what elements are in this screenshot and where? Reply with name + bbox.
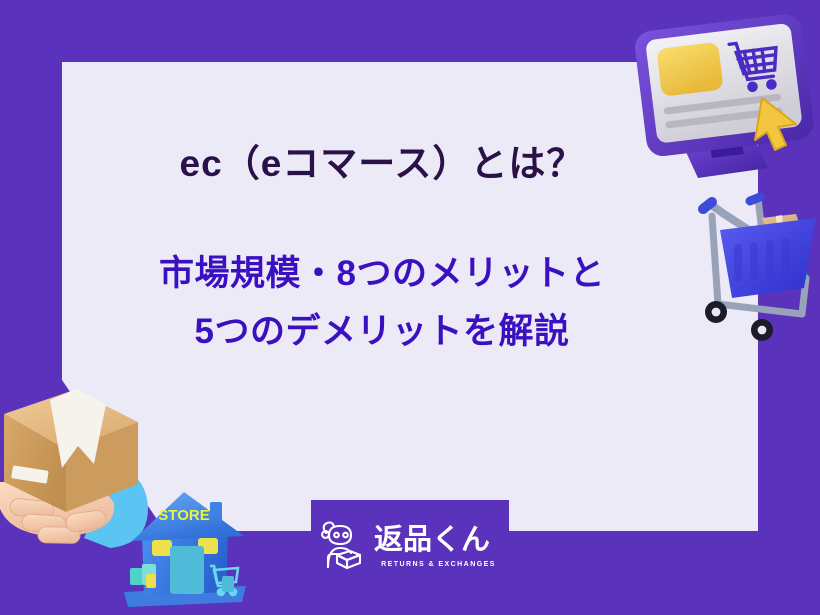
brand-wordmark-text: 返品くん: [374, 523, 490, 556]
page-title: ec（eコマース）とは？: [62, 133, 702, 187]
shopping-cart-with-parcels-illustration: [690, 192, 820, 357]
store-shopping-bags: [130, 564, 156, 588]
cart-wheel-right-hub: [758, 326, 767, 335]
cart-frame-grip: [750, 197, 760, 201]
brand-wordmark: 返品くん: [374, 522, 504, 556]
cart-handle-grip: [703, 202, 712, 209]
brand-logo-bar: 返品くん RETURNS & EXCHANGES: [311, 500, 509, 590]
brand-tagline: RETURNS & EXCHANGES: [381, 561, 496, 568]
screen-image-placeholder: [656, 42, 723, 97]
page-subtitle: 市場規模・8つのメリットと 5つのデメリットを解説: [62, 245, 702, 361]
store-awning-left: [152, 540, 172, 556]
page-subtitle-line-2: 5つのデメリットを解説: [62, 303, 702, 361]
thumbnail-canvas: ec（eコマース）とは？ 市場規模・8つのメリットと 5つのデメリットを解説: [0, 0, 820, 615]
store-bag-extra: [222, 576, 234, 592]
returns-robot-mascot-icon: [317, 520, 363, 570]
desktop-monitor-ecommerce-illustration: [628, 14, 820, 196]
cart-wheel-left-hub: [712, 308, 721, 317]
store-window: [170, 546, 204, 594]
store-building-illustration: STORE: [118, 480, 253, 615]
page-subtitle-line-1: 市場規模・8つのメリットと: [62, 245, 702, 303]
brand-wordmark-group: 返品くん RETURNS & EXCHANGES: [374, 522, 504, 568]
store-sign-text: STORE: [158, 507, 209, 524]
